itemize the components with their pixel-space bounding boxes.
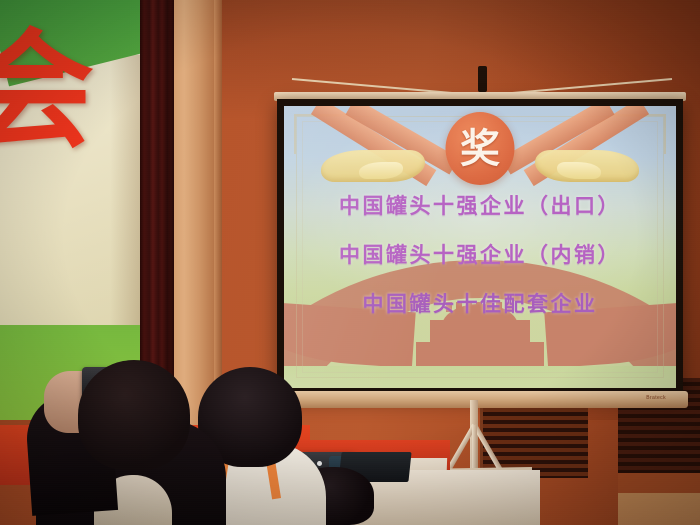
person-1-head <box>78 360 190 470</box>
award-seal-icon: 奖 <box>446 112 515 185</box>
stage-banner: 会 <box>0 0 150 420</box>
presentation-slide: 奖 中国罐头十强企业（出口） 中国罐头十强企业（内销） 中国罐头十佳配套企业 <box>284 106 676 388</box>
slide-line-3: 中国罐头十佳配套企业 <box>284 288 676 318</box>
wheat-wing-tip-right <box>557 162 601 179</box>
screen-brand-label: Brateck <box>646 395 666 401</box>
slide-line-1: 中国罐头十强企业（出口） <box>284 190 676 220</box>
award-emblem: 奖 <box>315 110 645 194</box>
slide-line-2: 中国罐头十强企业（内销） <box>284 239 676 269</box>
projection-screen: 奖 中国罐头十强企业（出口） 中国罐头十强企业（内销） 中国罐头十佳配套企业 <box>277 99 683 395</box>
screen-bottom-bar: Brateck <box>272 391 688 408</box>
banner-character: 会 <box>0 28 94 156</box>
slide-text-block: 中国罐头十强企业（出口） 中国罐头十强企业（内销） 中国罐头十佳配套企业 <box>284 190 676 337</box>
wall-base-right <box>618 473 700 525</box>
hanger-hook-icon <box>478 66 487 92</box>
award-seal-character: 奖 <box>460 129 500 169</box>
conference-hall-photo: 会 <box>0 0 700 525</box>
audience-person-1-photographer <box>36 365 226 525</box>
